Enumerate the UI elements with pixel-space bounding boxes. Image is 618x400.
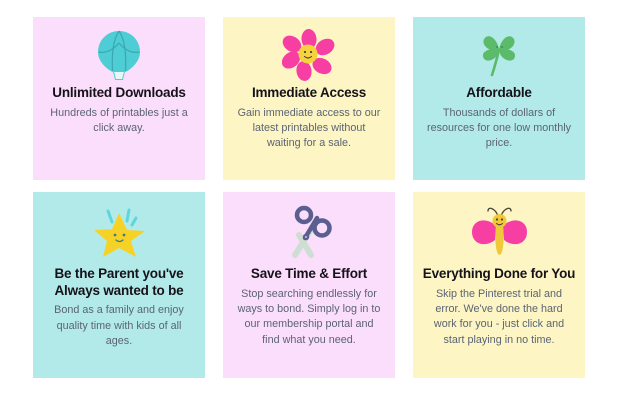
butterfly-icon <box>468 202 530 264</box>
card-description: Bond as a family and enjoy quality time … <box>39 303 199 349</box>
card-description: Stop searching endlessly for ways to bon… <box>229 287 389 348</box>
hot-air-balloon-icon <box>93 27 145 83</box>
card-title: Everything Done for You <box>421 266 577 283</box>
benefit-card-save-time-effort[interactable]: Save Time & Effort Stop searching endles… <box>223 192 395 378</box>
benefit-card-immediate-access[interactable]: Immediate Access Gain immediate access t… <box>223 17 395 180</box>
benefits-grid: Unlimited Downloads Hundreds of printabl… <box>33 17 585 378</box>
card-description: Hundreds of printables just a click away… <box>39 106 199 137</box>
card-title: Be the Parent you've Always wanted to be <box>39 266 199 299</box>
card-description: Thousands of dollars of resources for on… <box>419 106 579 152</box>
scissors-icon <box>281 202 337 264</box>
card-description: Skip the Pinterest trial and error. We'v… <box>419 287 579 348</box>
card-title: Immediate Access <box>250 85 368 102</box>
card-description: Gain immediate access to our latest prin… <box>229 106 389 152</box>
four-leaf-clover-icon <box>473 27 525 83</box>
card-title: Save Time & Effort <box>249 266 369 283</box>
smiling-star-icon <box>88 202 150 264</box>
benefit-card-everything-done-for-you[interactable]: Everything Done for You Skip the Pintere… <box>413 192 585 378</box>
benefit-card-unlimited-downloads[interactable]: Unlimited Downloads Hundreds of printabl… <box>33 17 205 180</box>
card-title: Affordable <box>464 85 534 102</box>
card-title: Unlimited Downloads <box>50 85 187 102</box>
benefit-card-affordable[interactable]: Affordable Thousands of dollars of resou… <box>413 17 585 180</box>
benefit-card-be-the-parent[interactable]: Be the Parent you've Always wanted to be… <box>33 192 205 378</box>
flower-icon <box>282 27 336 83</box>
